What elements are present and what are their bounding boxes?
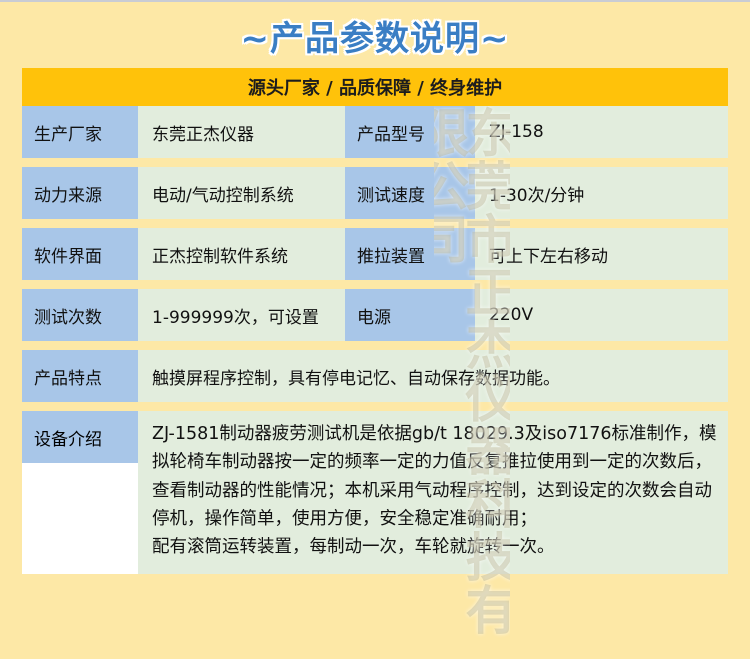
row-value: ZJ-158 (475, 106, 728, 158)
row-value: 东莞正杰仪器 (138, 106, 345, 158)
subheader-banner: 源头厂家 / 品质保障 / 终身维护 (22, 68, 728, 106)
row-value: 电动/气动控制系统 (138, 167, 345, 219)
description-text: ZJ-1581制动器疲劳测试机是依据gb/t 18029.3及iso7176标准… (138, 411, 728, 574)
row-label: 测试速度 (345, 167, 475, 219)
row-label: 动力来源 (22, 167, 138, 219)
table-row: 生产厂家 东莞正杰仪器 产品型号 ZJ-158 (22, 106, 728, 158)
table-row: 软件界面 正杰控制软件系统 推拉装置 可上下左右移动 (22, 228, 728, 280)
row-label: 产品型号 (345, 106, 475, 158)
description-label-column: 设备介绍 (22, 411, 138, 574)
row-value: 1-999999次，可设置 (138, 289, 345, 341)
row-value: 可上下左右移动 (475, 228, 728, 280)
spec-rows: 生产厂家 东莞正杰仪器 产品型号 ZJ-158 动力来源 电动/气动控制系统 测… (22, 106, 728, 574)
row-label: 电源 (345, 289, 475, 341)
row-value: 触摸屏程序控制，具有停电记忆、自动保存数据功能。 (138, 350, 728, 402)
spec-table: 源头厂家 / 品质保障 / 终身维护 东莞市正杰仪器科技有限公司 生产厂家 东莞… (22, 68, 728, 574)
page-title-bar: ~产品参数说明~ (0, 2, 750, 68)
description-label-filler (22, 463, 138, 574)
row-label: 产品特点 (22, 350, 138, 402)
row-label: 测试次数 (22, 289, 138, 341)
row-label: 设备介绍 (22, 411, 138, 463)
row-label: 软件界面 (22, 228, 138, 280)
table-row-description: 设备介绍 ZJ-1581制动器疲劳测试机是依据gb/t 18029.3及iso7… (22, 411, 728, 574)
table-row: 测试次数 1-999999次，可设置 电源 220V (22, 289, 728, 341)
subheader-text: 源头厂家 / 品质保障 / 终身维护 (248, 74, 502, 100)
table-row: 动力来源 电动/气动控制系统 测试速度 1-30次/分钟 (22, 167, 728, 219)
row-value: 1-30次/分钟 (475, 167, 728, 219)
table-row-features: 产品特点 触摸屏程序控制，具有停电记忆、自动保存数据功能。 (22, 350, 728, 402)
row-label: 生产厂家 (22, 106, 138, 158)
row-value: 正杰控制软件系统 (138, 228, 345, 280)
page-title: ~产品参数说明~ (241, 11, 510, 60)
row-label: 推拉装置 (345, 228, 475, 280)
product-spec-page: ~产品参数说明~ 源头厂家 / 品质保障 / 终身维护 东莞市正杰仪器科技有限公… (0, 2, 750, 659)
row-value: 220V (475, 289, 728, 341)
